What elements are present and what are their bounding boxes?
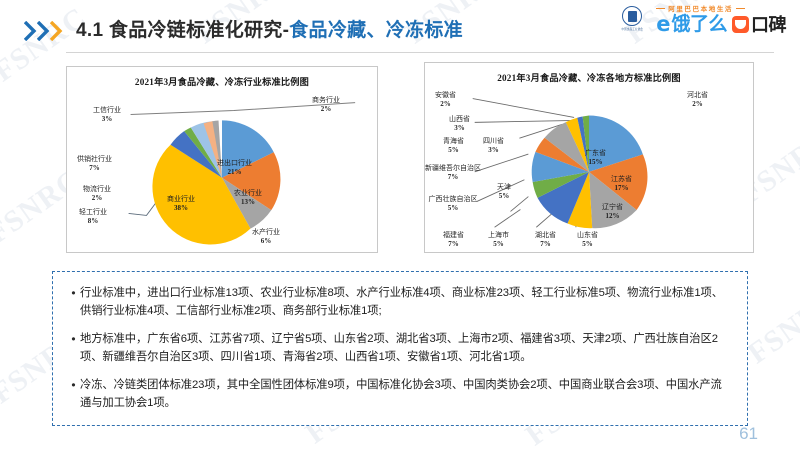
page-title-accent: 食品冷藏、冷冻标准 (289, 20, 463, 41)
logo-group: 中国食品工业协会 阿里巴巴本地生活 e 饿了么 口碑 (615, 3, 786, 35)
ali-tagline: 阿里巴巴本地生活 (668, 3, 733, 13)
pie-label: 新疆维吾尔自治区7% (425, 164, 481, 181)
pie-label: 福建省7% (443, 231, 464, 248)
double-chevron-right-icon (24, 21, 63, 41)
pie-label: 商业行业38% (167, 195, 195, 212)
pie-label: 青海省5% (443, 137, 464, 154)
brand-row: e 饿了么 口碑 (656, 14, 786, 35)
tagline-rule-right (736, 8, 745, 9)
pie-label: 商务行业2% (312, 96, 340, 113)
pie-label: 进出口行业21% (217, 159, 252, 176)
pie-label: 河北省2% (687, 91, 708, 108)
koubei-smile-icon (732, 16, 749, 33)
pie-label: 上海市5% (488, 231, 509, 248)
pie-slices (152, 120, 280, 244)
bullet-item: • 冷冻、冷链类团体标准23项，其中全国性团体标准9项，中国标准化协会3项、中国… (67, 377, 731, 412)
watermark-text: FSNRC (742, 283, 800, 371)
slide-header: 4.1 食品冷链标准化研究-食品冷藏、冷冻标准 中国食品工业协会 阿里巴巴本地生… (0, 0, 800, 58)
chevron-right-icon (24, 21, 37, 41)
eleme-e-mark: e (656, 14, 670, 35)
pie-label: 工信行业3% (93, 106, 121, 123)
bullet-text: 行业标准中，进出口行业标准13项、农业行业标准8项、水产行业标准4项、商业标准2… (80, 285, 731, 320)
bullet-marker: • (67, 377, 80, 412)
header-divider (66, 52, 774, 53)
pie-label: 四川省3% (483, 137, 504, 154)
pie-label: 物流行业2% (83, 185, 111, 202)
pie-label: 广东省15% (585, 149, 606, 166)
alibaba-local-life-logo: 阿里巴巴本地生活 e 饿了么 口碑 (656, 3, 786, 35)
summary-callout-box: • 行业标准中，进出口行业标准13项、农业行业标准8项、水产行业标准4项、商业标… (52, 271, 748, 426)
pie-label: 供销社行业7% (77, 155, 112, 172)
pie-label: 农业行业13% (234, 189, 262, 206)
page-title: 4.1 食品冷链标准化研究-食品冷藏、冷冻标准 (76, 15, 463, 42)
pie-label: 天津5% (497, 183, 511, 200)
pie-label: 山西省3% (449, 115, 470, 132)
koubei-logo: 口碑 (732, 16, 786, 34)
pie-label: 广西壮族自治区5% (425, 195, 481, 212)
bullet-marker: • (67, 331, 80, 366)
pie-label: 山东省5% (577, 231, 598, 248)
pie-label: 安徽省2% (435, 91, 456, 108)
koubei-label: 口碑 (751, 16, 786, 34)
pie-label: 湖北省7% (535, 231, 556, 248)
bullet-text: 地方标准中，广东省6项、江苏省7项、辽宁省5项、山东省2项、湖北省3项、上海市2… (80, 331, 731, 366)
seal-caption: 中国食品工业协会 (615, 28, 649, 31)
pie-label: 轻工行业8% (79, 208, 107, 225)
pie-label: 江苏省17% (611, 175, 632, 192)
chevron-right-icon (50, 21, 63, 41)
page-title-main: 4.1 食品冷链标准化研究- (76, 20, 289, 41)
eleme-logo: e 饿了么 (656, 14, 727, 35)
industry-standards-pie-chart: 2021年3月食品冷藏、冷冻行业标准比例图 进出口行业21% 农业行业13% 水… (66, 66, 378, 253)
bullet-text: 冷冻、冷链类团体标准23项，其中全国性团体标准9项，中国标准化协会3项、中国肉类… (80, 377, 731, 412)
association-seal-logo: 中国食品工业协会 (615, 6, 649, 31)
pie-label: 辽宁省12% (602, 203, 623, 220)
local-standards-pie-chart: 2021年3月食品冷藏、冷冻各地方标准比例图 (424, 62, 754, 253)
bullet-item: • 行业标准中，进出口行业标准13项、农业行业标准8项、水产行业标准4项、商业标… (67, 285, 731, 320)
chevron-right-icon (37, 21, 50, 41)
eleme-label: 饿了么 (671, 15, 727, 34)
pie-slices (532, 115, 648, 228)
bullet-marker: • (67, 285, 80, 320)
pie-label: 水产行业6% (252, 228, 280, 245)
seal-icon (622, 6, 642, 26)
page-number: 61 (739, 424, 758, 444)
tagline-rule-left (656, 8, 665, 9)
bullet-item: • 地方标准中，广东省6项、江苏省7项、辽宁省5项、山东省2项、湖北省3项、上海… (67, 331, 731, 366)
